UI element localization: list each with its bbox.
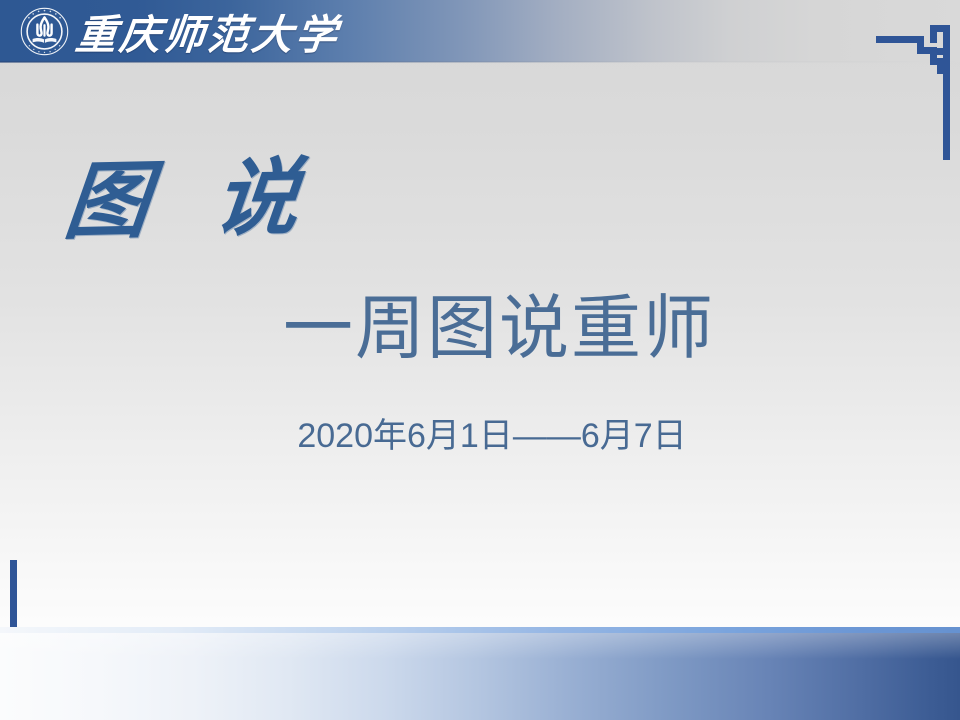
decorative-corner-bracket-top-right xyxy=(876,8,954,160)
university-wordmark: 重庆师范大学 xyxy=(73,4,343,58)
date-range: 2020年6月1日——6月7日 xyxy=(0,408,960,457)
header-underline xyxy=(0,61,960,63)
brush-title: 图 说 xyxy=(60,130,328,256)
presentation-slide: 重庆师范大学 图 说 一周图说重师 2 xyxy=(0,0,960,720)
university-seal-icon xyxy=(20,7,69,56)
main-heading: 一周图说重师 xyxy=(0,272,960,373)
bottom-band xyxy=(0,633,960,720)
